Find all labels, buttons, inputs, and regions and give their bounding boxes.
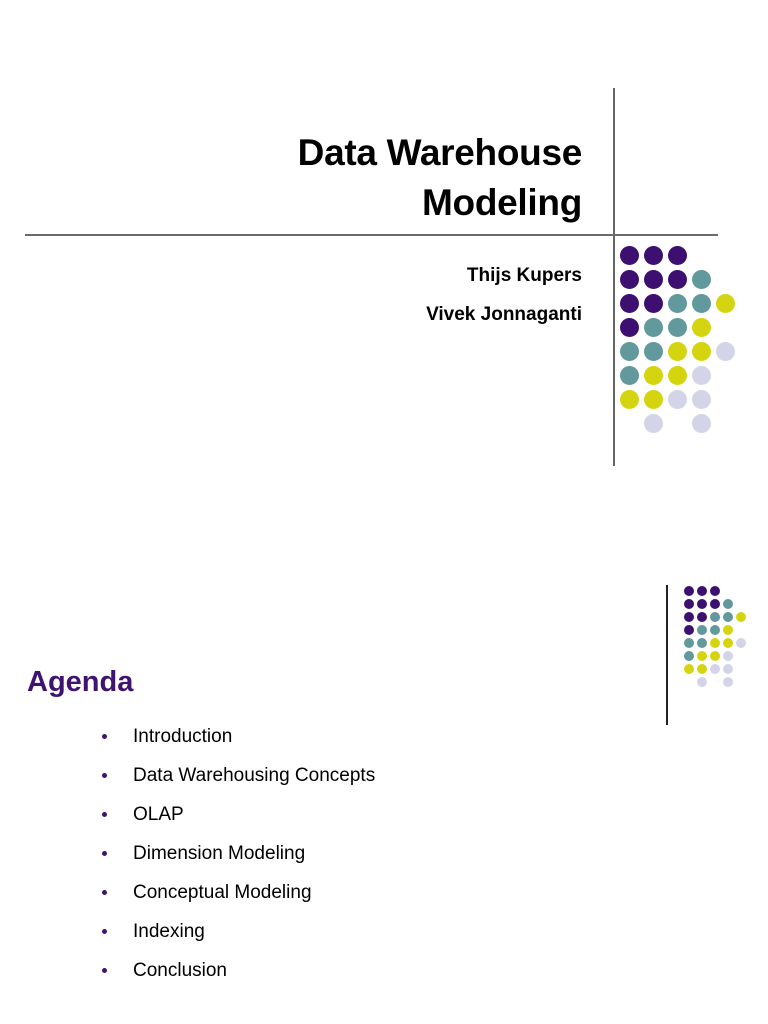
bullet-point-icon: [102, 968, 107, 973]
decoration-dot-lavender: [723, 651, 733, 661]
decoration-dot-yellow: [710, 638, 720, 648]
bullet-point-icon: [102, 890, 107, 895]
agenda-slide: Agenda IntroductionData Warehousing Conc…: [0, 512, 768, 1024]
agenda-item-list: IntroductionData Warehousing ConceptsOLA…: [98, 717, 658, 990]
decoration-dot-purple: [697, 599, 707, 609]
decoration-dot-teal: [620, 366, 639, 385]
decoration-dot-yellow: [697, 651, 707, 661]
decoration-dot-teal: [723, 612, 733, 622]
agenda-item[interactable]: Introduction: [98, 717, 658, 756]
decoration-dot-lavender: [716, 342, 735, 361]
decoration-dot-purple: [684, 612, 694, 622]
decoration-dot-purple: [697, 586, 707, 596]
decoration-dot-purple: [684, 625, 694, 635]
bullet-point-icon: [102, 851, 107, 856]
bullet-point-icon: [102, 734, 107, 739]
decoration-dot-teal: [684, 651, 694, 661]
decoration-dot-lavender: [723, 664, 733, 674]
agenda-item-label: Indexing: [133, 921, 205, 942]
bullet-point-icon: [102, 773, 107, 778]
decoration-dot-purple: [644, 246, 663, 265]
decoration-dot-lavender: [692, 414, 711, 433]
decoration-dot-lavender: [644, 414, 663, 433]
agenda-item[interactable]: OLAP: [98, 795, 658, 834]
decoration-dot-yellow: [723, 638, 733, 648]
decoration-dot-teal: [620, 342, 639, 361]
decoration-dot-yellow: [716, 294, 735, 313]
title-slide: Data Warehouse Modeling Thijs Kupers Viv…: [0, 0, 768, 512]
decoration-dot-yellow: [668, 366, 687, 385]
agenda-item-label: Conclusion: [133, 960, 227, 981]
decoration-dot-lavender: [723, 677, 733, 687]
agenda-item[interactable]: Dimension Modeling: [98, 834, 658, 873]
decoration-dot-yellow: [710, 651, 720, 661]
decoration-dot-lavender: [697, 677, 707, 687]
decoration-dot-teal: [684, 638, 694, 648]
decoration-dot-purple: [684, 599, 694, 609]
decoration-dot-purple: [644, 270, 663, 289]
decoration-dot-teal: [692, 294, 711, 313]
title-horizontal-divider: [25, 234, 718, 236]
agenda-item[interactable]: Conceptual Modeling: [98, 873, 658, 912]
decoration-dot-yellow: [620, 390, 639, 409]
decoration-dot-purple: [668, 270, 687, 289]
decoration-dot-purple: [620, 294, 639, 313]
title-vertical-divider: [613, 88, 615, 466]
decoration-dot-yellow: [644, 390, 663, 409]
decoration-dot-purple: [668, 246, 687, 265]
author-name-2: Vivek Jonnaganti: [180, 295, 582, 334]
dot-matrix-decoration-title: [620, 246, 752, 442]
decoration-dot-purple: [620, 318, 639, 337]
agenda-item-label: Data Warehousing Concepts: [133, 765, 375, 786]
decoration-dot-yellow: [692, 342, 711, 361]
agenda-item-label: Introduction: [133, 726, 232, 747]
decoration-dot-teal: [723, 599, 733, 609]
title-line-2: Modeling: [120, 178, 582, 228]
decoration-dot-teal: [697, 625, 707, 635]
decoration-dot-teal: [668, 318, 687, 337]
agenda-item-label: OLAP: [133, 804, 184, 825]
decoration-dot-lavender: [710, 664, 720, 674]
author-name-1: Thijs Kupers: [180, 256, 582, 295]
agenda-vertical-divider: [666, 585, 668, 725]
decoration-dot-teal: [668, 294, 687, 313]
decoration-dot-yellow: [723, 625, 733, 635]
decoration-dot-yellow: [644, 366, 663, 385]
decoration-dot-teal: [710, 612, 720, 622]
bullet-point-icon: [102, 812, 107, 817]
bullet-point-icon: [102, 929, 107, 934]
decoration-dot-lavender: [692, 366, 711, 385]
agenda-item[interactable]: Indexing: [98, 912, 658, 951]
title-line-1: Data Warehouse: [120, 128, 582, 178]
decoration-dot-yellow: [668, 342, 687, 361]
author-list: Thijs Kupers Vivek Jonnaganti: [180, 256, 582, 334]
decoration-dot-purple: [684, 586, 694, 596]
presentation-title: Data Warehouse Modeling: [120, 128, 582, 228]
agenda-item-label: Dimension Modeling: [133, 843, 305, 864]
decoration-dot-yellow: [684, 664, 694, 674]
decoration-dot-purple: [697, 612, 707, 622]
decoration-dot-lavender: [736, 638, 746, 648]
decoration-dot-yellow: [697, 664, 707, 674]
agenda-item[interactable]: Conclusion: [98, 951, 658, 990]
agenda-item-label: Conceptual Modeling: [133, 882, 312, 903]
decoration-dot-teal: [692, 270, 711, 289]
decoration-dot-teal: [644, 342, 663, 361]
decoration-dot-lavender: [692, 390, 711, 409]
decoration-dot-purple: [710, 586, 720, 596]
decoration-dot-purple: [644, 294, 663, 313]
decoration-dot-purple: [710, 599, 720, 609]
decoration-dot-lavender: [668, 390, 687, 409]
dot-matrix-decoration-agenda: [684, 586, 756, 694]
decoration-dot-purple: [620, 270, 639, 289]
decoration-dot-teal: [644, 318, 663, 337]
decoration-dot-purple: [620, 246, 639, 265]
agenda-heading: Agenda: [27, 664, 133, 700]
decoration-dot-teal: [697, 638, 707, 648]
agenda-item[interactable]: Data Warehousing Concepts: [98, 756, 658, 795]
decoration-dot-yellow: [692, 318, 711, 337]
decoration-dot-teal: [710, 625, 720, 635]
decoration-dot-yellow: [736, 612, 746, 622]
